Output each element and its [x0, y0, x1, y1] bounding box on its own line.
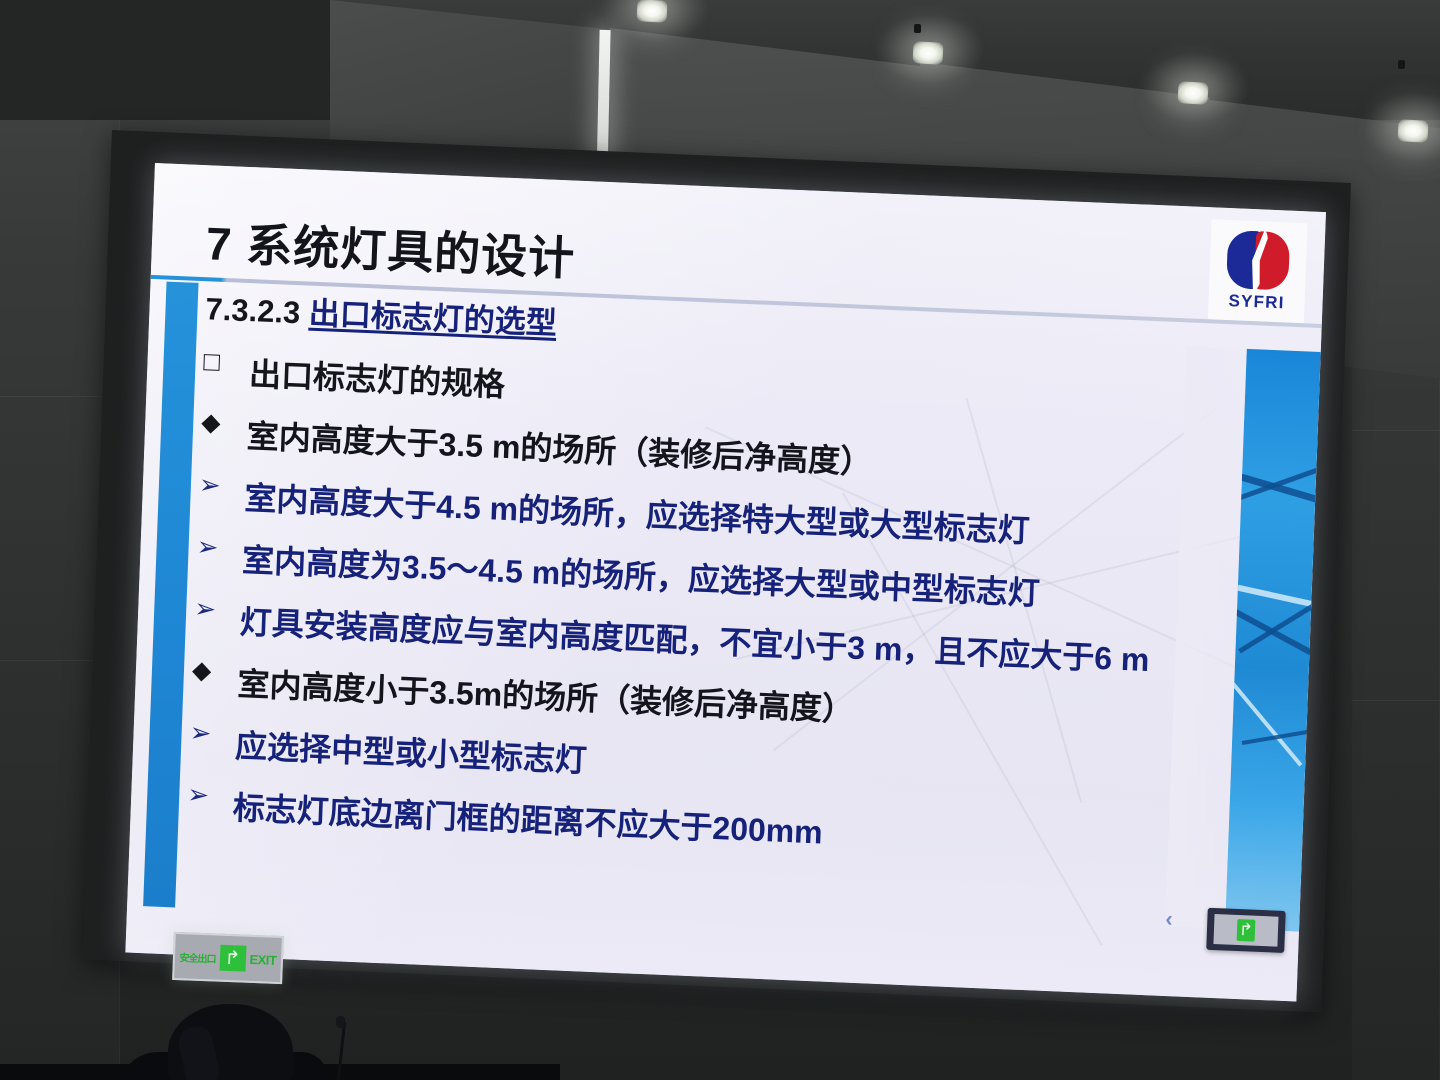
list-item-text: 标志灯底边离门框的距离不应大于200mm	[232, 783, 824, 854]
truss-line	[1230, 607, 1321, 674]
list-item-text: 出口标志灯的规格	[248, 349, 506, 406]
exit-sign-english-label: EXIT	[249, 951, 276, 967]
truss-line	[1229, 679, 1303, 766]
microphone-head	[336, 1016, 345, 1028]
exit-sign-chinese-label: 安全出口	[179, 949, 216, 965]
wall-exit-sign: 安全出口 ↱ EXIT	[172, 932, 284, 984]
presentation-slide[interactable]: SYFRI 7 系统灯具的设计 7.3.2.3 出口标志灯的选型 □ 出口标志灯…	[125, 163, 1326, 1002]
exit-sign-photo: ↱	[1206, 908, 1286, 953]
diamond-bullet-icon: ◆	[192, 657, 239, 685]
projection-area: SYFRI 7 系统灯具的设计 7.3.2.3 出口标志灯的选型 □ 出口标志灯…	[0, 0, 1440, 1080]
arrow-bullet-icon: ➢	[196, 533, 243, 562]
arrow-bullet-icon: ➢	[187, 781, 234, 810]
square-bullet-icon: □	[203, 347, 250, 377]
logo-wordmark: SYFRI	[1228, 291, 1285, 313]
subtitle-number: 7.3.2.3	[205, 291, 310, 330]
arrow-bullet-icon: ➢	[198, 471, 245, 500]
arrow-bullet-icon: ➢	[189, 719, 236, 748]
syfri-logo-mark	[1226, 230, 1290, 291]
slide-bullet-list: □ 出口标志灯的规格 ◆ 室内高度大于3.5 m的场所（装修后净高度） ➢ 室内…	[186, 347, 1244, 886]
list-item-text: 应选择中型或小型标志灯	[234, 721, 587, 782]
company-logo: SYFRI	[1208, 219, 1308, 323]
list-item-text: 室内高度大于3.5 m的场所（装修后净高度）	[246, 411, 873, 483]
diamond-bullet-icon: ◆	[201, 409, 248, 437]
list-item-text: 室内高度小于3.5m的场所（装修后净高度）	[237, 659, 855, 731]
running-man-icon: ↱	[219, 945, 246, 972]
previous-slide-button[interactable]: ‹	[1165, 906, 1173, 932]
arrow-bullet-icon: ➢	[194, 595, 241, 624]
subtitle-text: 出口标志灯的选型	[308, 296, 557, 341]
running-man-icon: ↱	[1236, 919, 1255, 942]
exit-sign-face: ↱	[1213, 914, 1278, 947]
